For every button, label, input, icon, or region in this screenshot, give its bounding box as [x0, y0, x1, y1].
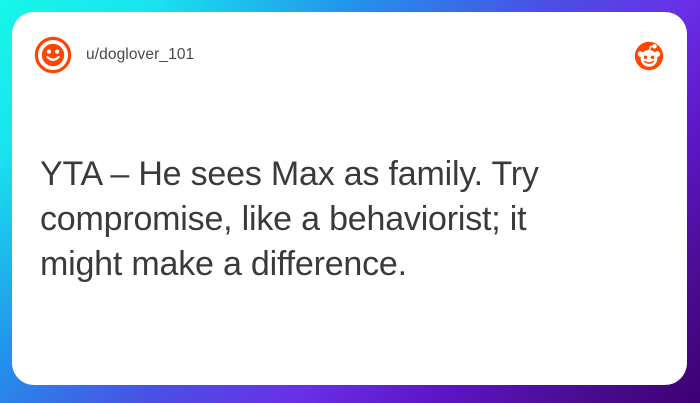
post-header: u/doglover_101: [12, 12, 687, 98]
post-body-text: YTA – He sees Max as family. Try comprom…: [40, 152, 610, 287]
smiley-face-avatar-icon[interactable]: [34, 36, 72, 74]
user-identity[interactable]: u/doglover_101: [34, 36, 194, 74]
post-card: u/doglover_101 YTA – He sees Max as fami…: [12, 12, 687, 385]
username-label: u/doglover_101: [86, 46, 194, 64]
reddit-snoo-icon[interactable]: [634, 41, 664, 71]
gradient-background: u/doglover_101 YTA – He sees Max as fami…: [0, 0, 700, 403]
